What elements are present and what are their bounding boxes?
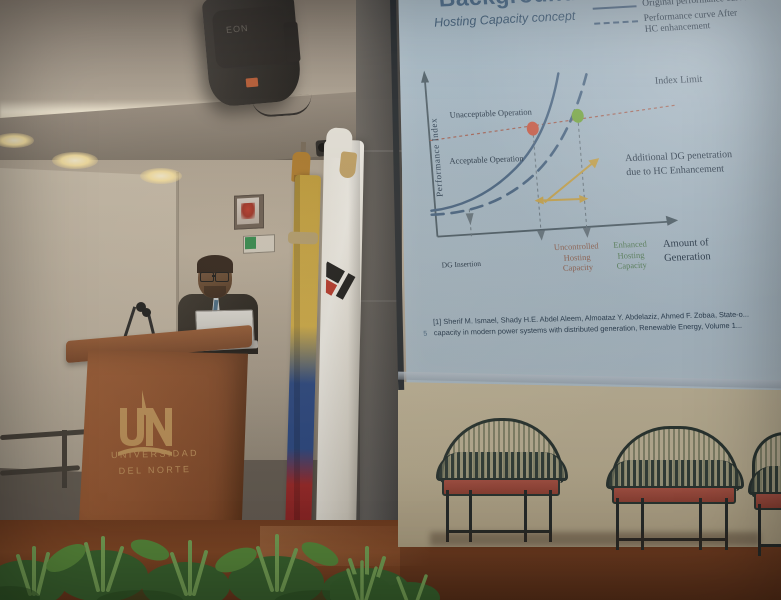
slide-content: Background Hosting Capacity concept Orig… [398,0,781,390]
microphone-head-icon [142,308,151,317]
foreground-plants [330,540,440,600]
handrail-post [62,430,67,488]
legend-solid-line-icon [593,5,637,10]
projected-slide: Background Hosting Capacity concept Orig… [398,0,781,390]
chair-arm [436,452,568,481]
chair-shadow [430,532,760,546]
glasses-icon [215,272,229,282]
university-flag-logo [325,250,360,321]
annotation-dg-insertion: DG Insertion [441,259,481,270]
annotation-index-limit: Index Limit [655,74,703,87]
annotation-enhanced-hosting-capacity: Enhanced Hosting Capacity [604,238,658,272]
projection-screen: Background Hosting Capacity concept Orig… [398,0,781,390]
pa-speaker-badge [246,77,259,87]
presenter-hair [197,255,233,273]
flag-tie [288,231,318,244]
pa-speaker-grille [212,5,289,69]
university-flag-shadow [348,140,360,540]
annotation-additional-dg-penetration: Additional DG penetration due to HC Enha… [625,148,737,179]
legend-label: Performance curve After HC enhancement [643,9,739,37]
colombia-flag-fold [294,175,300,535]
annotation-uncontrolled-hosting-capacity: Uncontrolled Hosting Capacity [548,240,606,274]
glasses-bridge [212,275,216,277]
presenter-beard [204,286,226,298]
slide-citation: [1] Sherif M. Ismael, Shady H.E. Abdel A… [433,308,764,339]
hosting-capacity-chart: Performance Index [406,54,722,281]
fire-extinguisher-icon [241,203,255,220]
screenshot-root: EON [0,0,781,600]
exit-icon [245,237,256,250]
column-panel-seam [356,300,402,302]
glasses-icon [200,272,214,282]
chair-arm [606,460,744,489]
chair-legs [758,504,781,556]
x-axis-label: Amount of Generation [663,235,745,265]
chart-legend: Original performance curve Performance c… [592,0,781,43]
wicker-chair [440,418,558,544]
ceiling-downlight [52,152,98,169]
slide-number: 5 [423,331,427,338]
legend-dashed-line-icon [594,20,638,25]
ceiling-downlight [140,168,182,184]
